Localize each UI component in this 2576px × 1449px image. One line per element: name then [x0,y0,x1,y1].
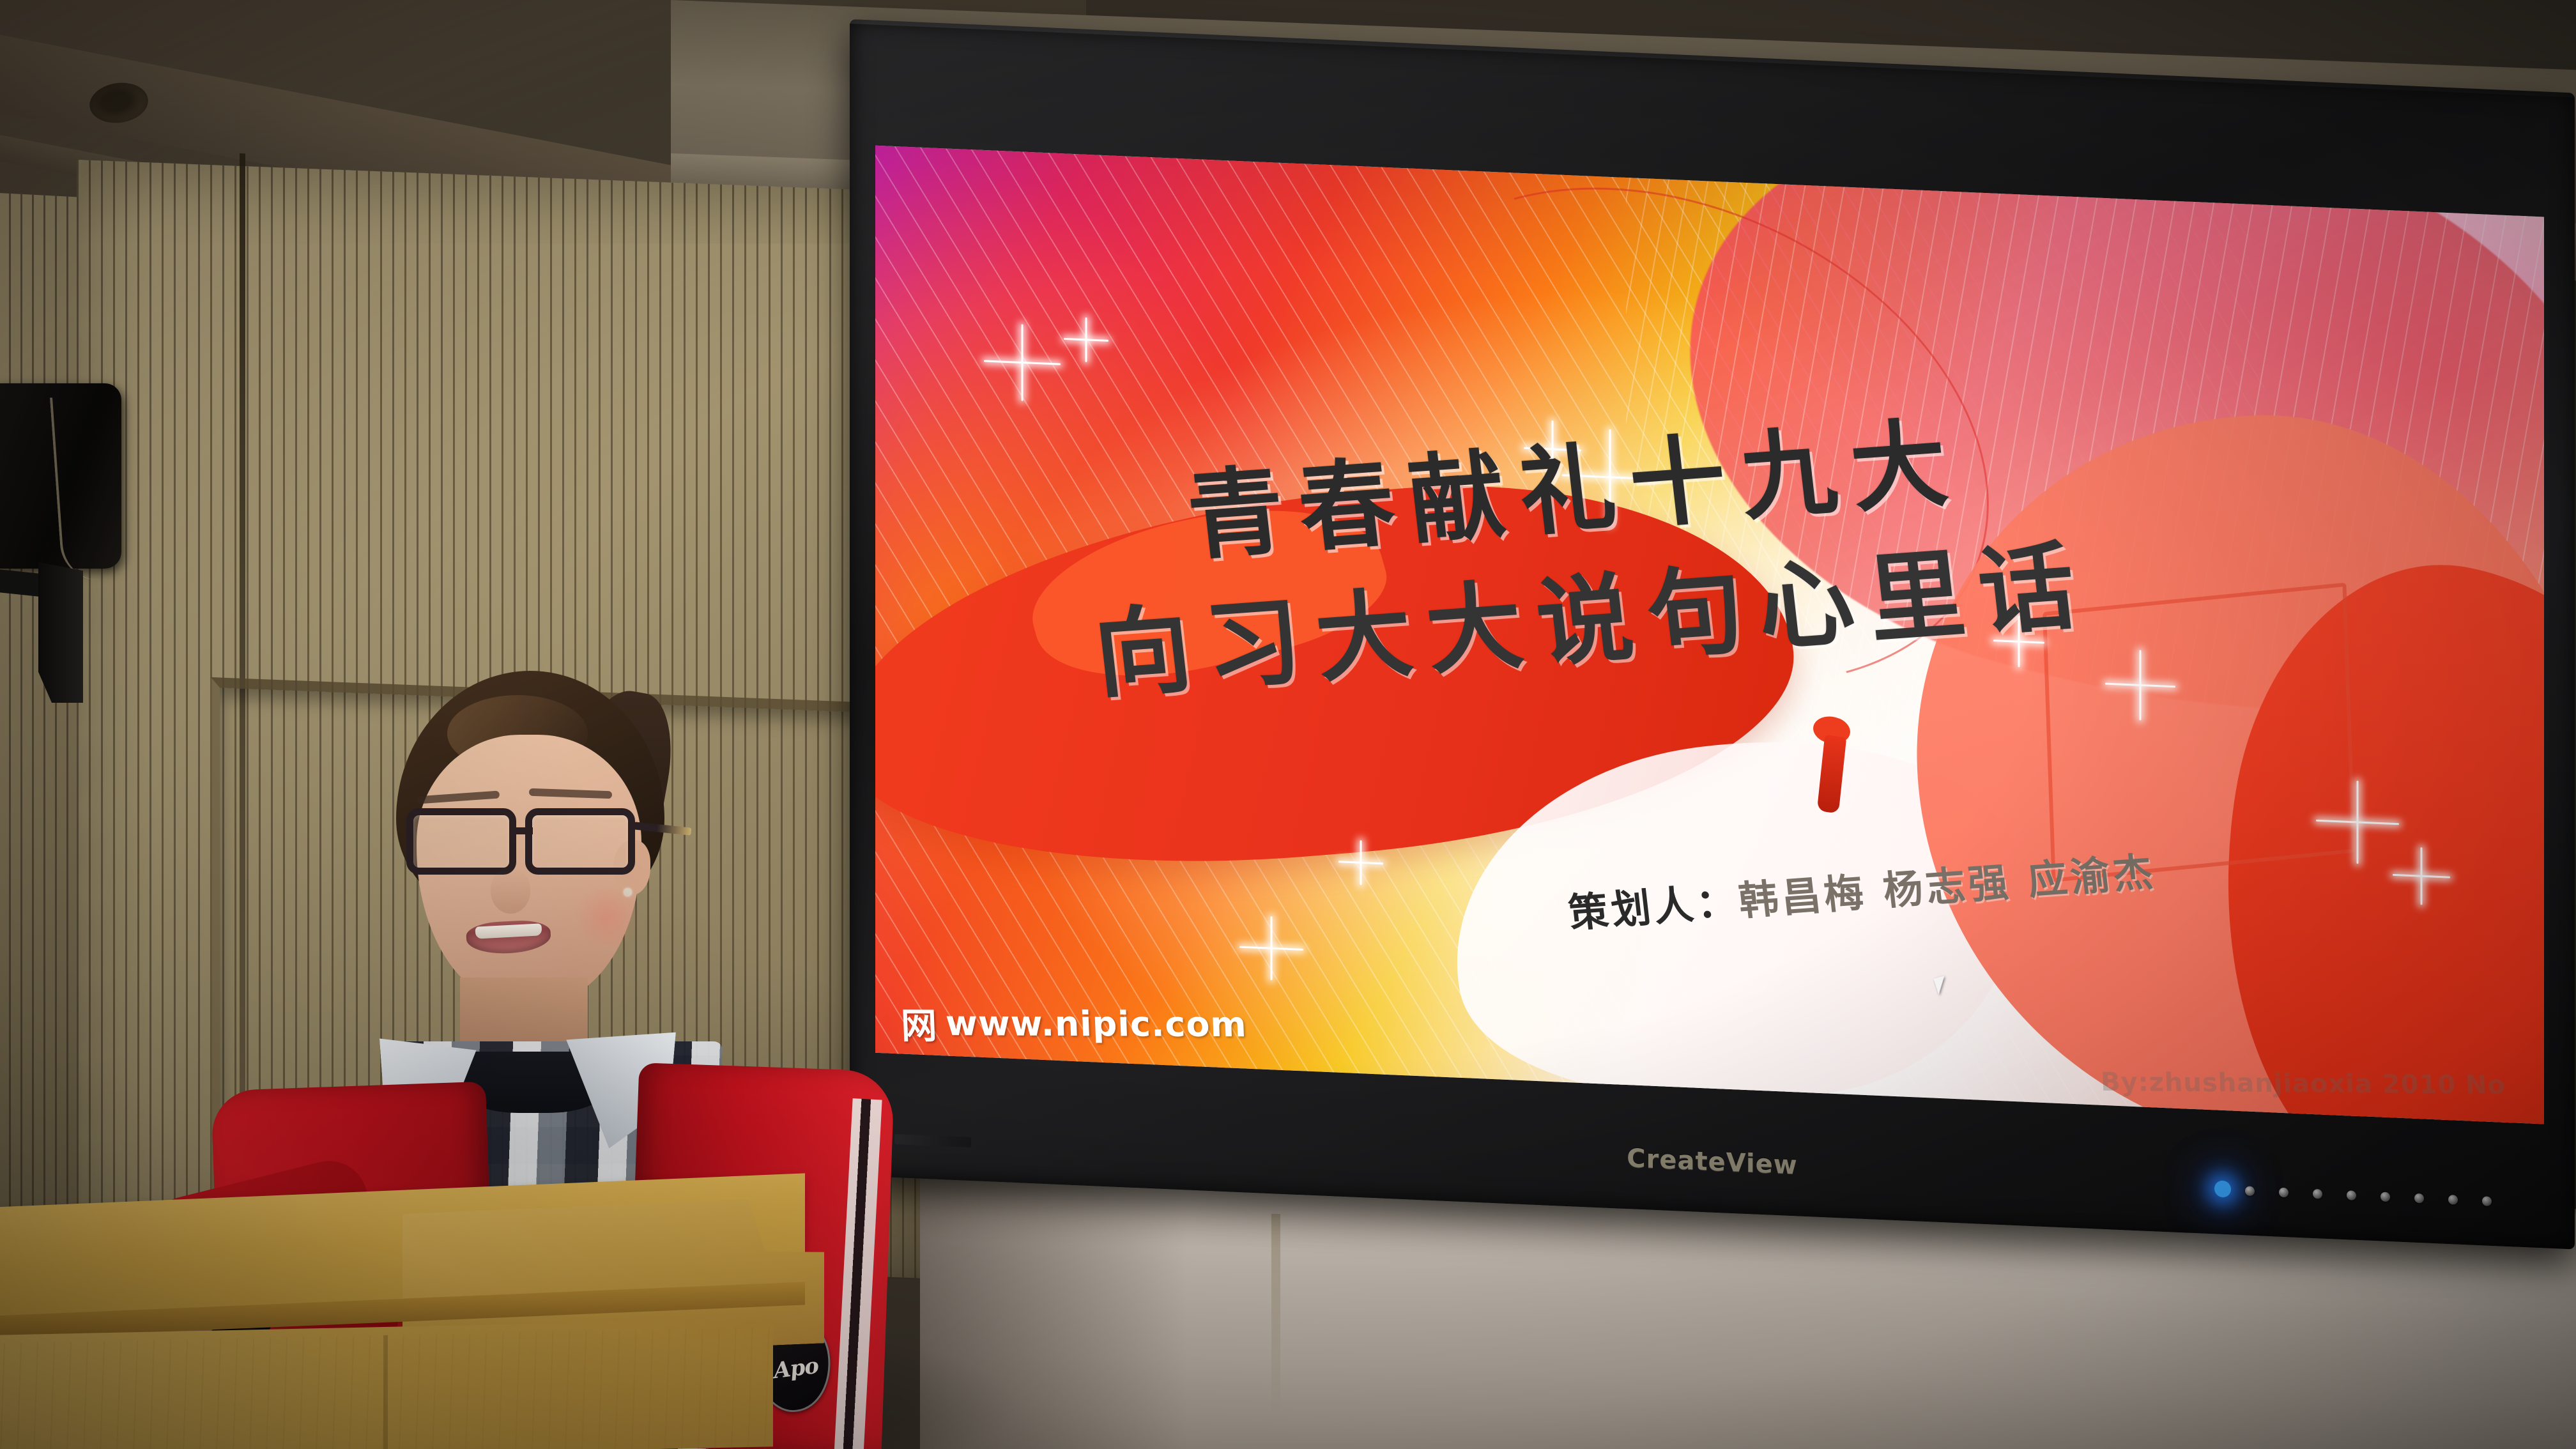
speaker-mount-bracket [38,562,83,703]
wall-mounted-display[interactable]: 青春献礼十九大 向习大大说句心里话 策划人：韩昌梅 杨志强 应渝杰 网 www.… [850,19,2575,1250]
display-button[interactable] [2414,1193,2424,1204]
display-button[interactable] [2347,1190,2356,1200]
display-screen[interactable]: 青春献礼十九大 向习大大说句心里话 策划人：韩昌梅 杨志强 应渝杰 网 www.… [875,146,2544,1124]
presentation-slide: 青春献礼十九大 向习大大说句心里话 策划人：韩昌梅 杨志强 应渝杰 网 www.… [875,146,2544,1124]
glasses-lens-left [406,808,516,875]
watermark-url: www.nipic.com [945,1003,1248,1045]
glasses-icon [406,808,662,878]
glasses-bridge [514,827,533,834]
podium-panel-seam [383,1335,388,1449]
display-button[interactable] [2448,1195,2458,1205]
slide-subtitle-label: 策划人： [1566,878,1742,937]
glasses-lens-right [525,808,635,875]
display-button[interactable] [2380,1192,2390,1202]
lecture-room-scene: 青春献礼十九大 向习大大说句心里话 策划人：韩昌梅 杨志强 应渝杰 网 www.… [0,0,2576,1449]
slide-faint-watermark: By:zhushanjiaoxia 2010 No [2100,1068,2506,1100]
display-button[interactable] [2313,1189,2322,1199]
display-button[interactable] [2245,1186,2255,1196]
nose [491,869,530,914]
power-led-indicator [2214,1180,2231,1197]
display-button[interactable] [2482,1196,2492,1206]
display-button[interactable] [2279,1188,2288,1198]
cheek-blush [569,888,645,946]
wall-stain [1271,1214,1280,1418]
